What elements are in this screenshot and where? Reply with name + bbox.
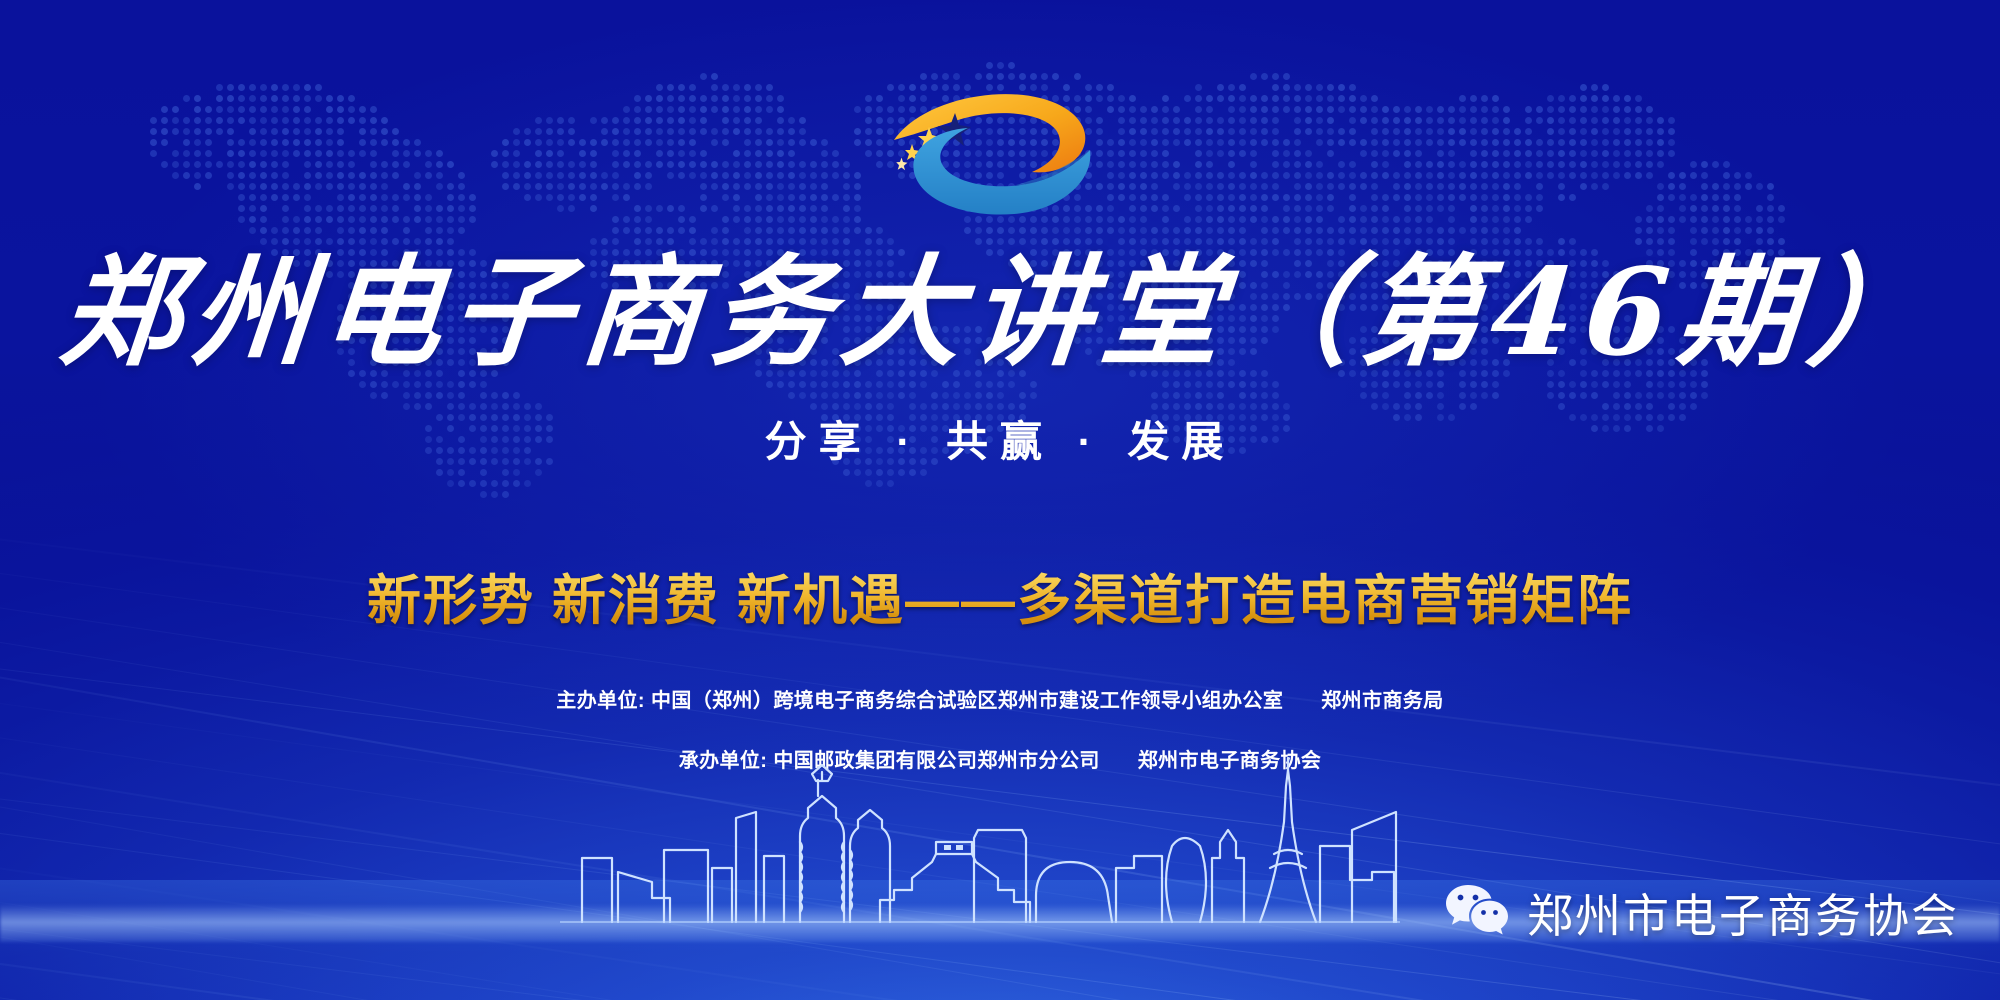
host-value-primary: 中国（郑州）跨境电子商务综合试验区郑州市建设工作领导小组办公室 <box>651 690 1283 712</box>
host-value-secondary: 郑州市商务局 <box>1321 690 1443 712</box>
subtitle: 分享 · 共赢 · 发展 <box>0 408 2000 469</box>
event-poster: 郑州电子商务大讲堂（第46期） 分享 · 共赢 · 发展 新形势 新消费 新机遇… <box>0 0 2000 1000</box>
page-title: 郑州电子商务大讲堂（第46期） <box>0 250 2000 376</box>
wechat-account-badge[interactable]: 郑州市电子商务协会 <box>1445 880 1959 946</box>
headline: 新形势 新消费 新机遇——多渠道打造电商营销矩阵 <box>0 556 2000 635</box>
cross-border-ecommerce-logo <box>880 88 1130 218</box>
host-organizer-line: 主办单位: 中国（郑州）跨境电子商务综合试验区郑州市建设工作领导小组办公室 郑州… <box>0 684 2000 713</box>
host-label: 主办单位: <box>556 690 645 712</box>
wechat-icon <box>1445 883 1509 944</box>
zhengzhou-skyline-outline <box>560 750 1400 970</box>
main-title-block: 郑州电子商务大讲堂（第46期） <box>0 250 2000 376</box>
wechat-account-name: 郑州市电子商务协会 <box>1527 880 1959 946</box>
